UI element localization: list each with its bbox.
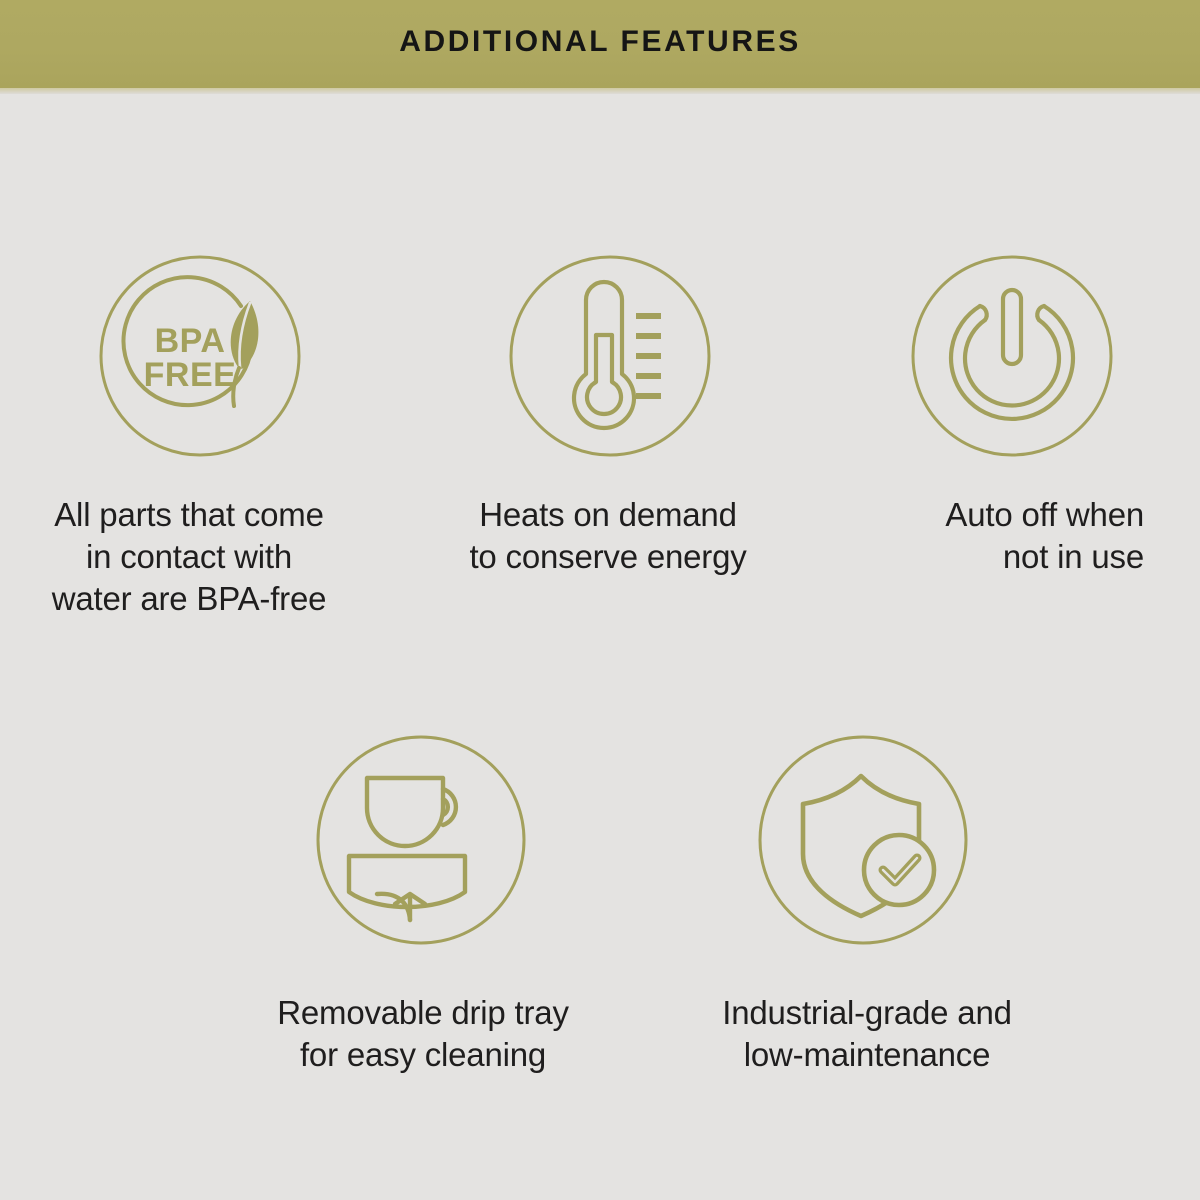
- bpa-free-icon-wrap: BPA FREE: [98, 254, 400, 458]
- shield-check-icon-wrap: [757, 734, 1080, 946]
- free-label: FREE: [144, 356, 237, 394]
- feature-caption: Removable drip tray for easy cleaning: [210, 992, 630, 1076]
- feature-caption: Auto off when not in use: [810, 494, 1200, 578]
- thermometer-mercury-icon: [587, 335, 621, 414]
- power-bar-icon: [1003, 290, 1021, 364]
- feature-auto-off: Auto off when not in use: [810, 254, 1200, 578]
- cup-drip-tray-icon: [315, 734, 527, 946]
- thermometer-icon: [508, 254, 712, 458]
- power-icon: [910, 254, 1114, 458]
- bpa-free-icon: BPA FREE: [98, 254, 302, 458]
- page-title: ADDITIONAL FEATURES: [399, 27, 801, 57]
- power-icon-wrap: [910, 254, 1200, 458]
- leaf-blade-icon: [231, 301, 259, 369]
- feature-heats-on-demand: Heats on demand to conserve energy: [400, 254, 810, 578]
- shield-check-icon: [757, 734, 969, 946]
- cup-drip-tray-icon-wrap: [315, 734, 630, 946]
- bpa-label: BPA: [155, 322, 226, 360]
- header-bar: ADDITIONAL FEATURES: [0, 0, 1200, 88]
- thermometer-icon-wrap: [508, 254, 810, 458]
- thermometer-body-icon: [574, 282, 634, 428]
- cup-body-icon: [367, 778, 443, 846]
- feature-caption: All parts that come in contact with wate…: [0, 494, 400, 621]
- feature-bpa-free: BPA FREE All parts that come in contact …: [0, 254, 400, 621]
- feature-caption: Industrial-grade and low-maintenance: [650, 992, 1080, 1076]
- features-grid: BPA FREE All parts that come in contact …: [0, 94, 1200, 1200]
- feature-caption: Heats on demand to conserve energy: [400, 494, 810, 578]
- thermometer-ticks-icon: [636, 316, 661, 396]
- feature-drip-tray: Removable drip tray for easy cleaning: [210, 734, 630, 1076]
- feature-infographic: ADDITIONAL FEATURES BPA FREE: [0, 0, 1200, 1200]
- drip-tray-icon: [349, 856, 465, 907]
- feature-industrial-grade: Industrial-grade and low-maintenance: [650, 734, 1080, 1076]
